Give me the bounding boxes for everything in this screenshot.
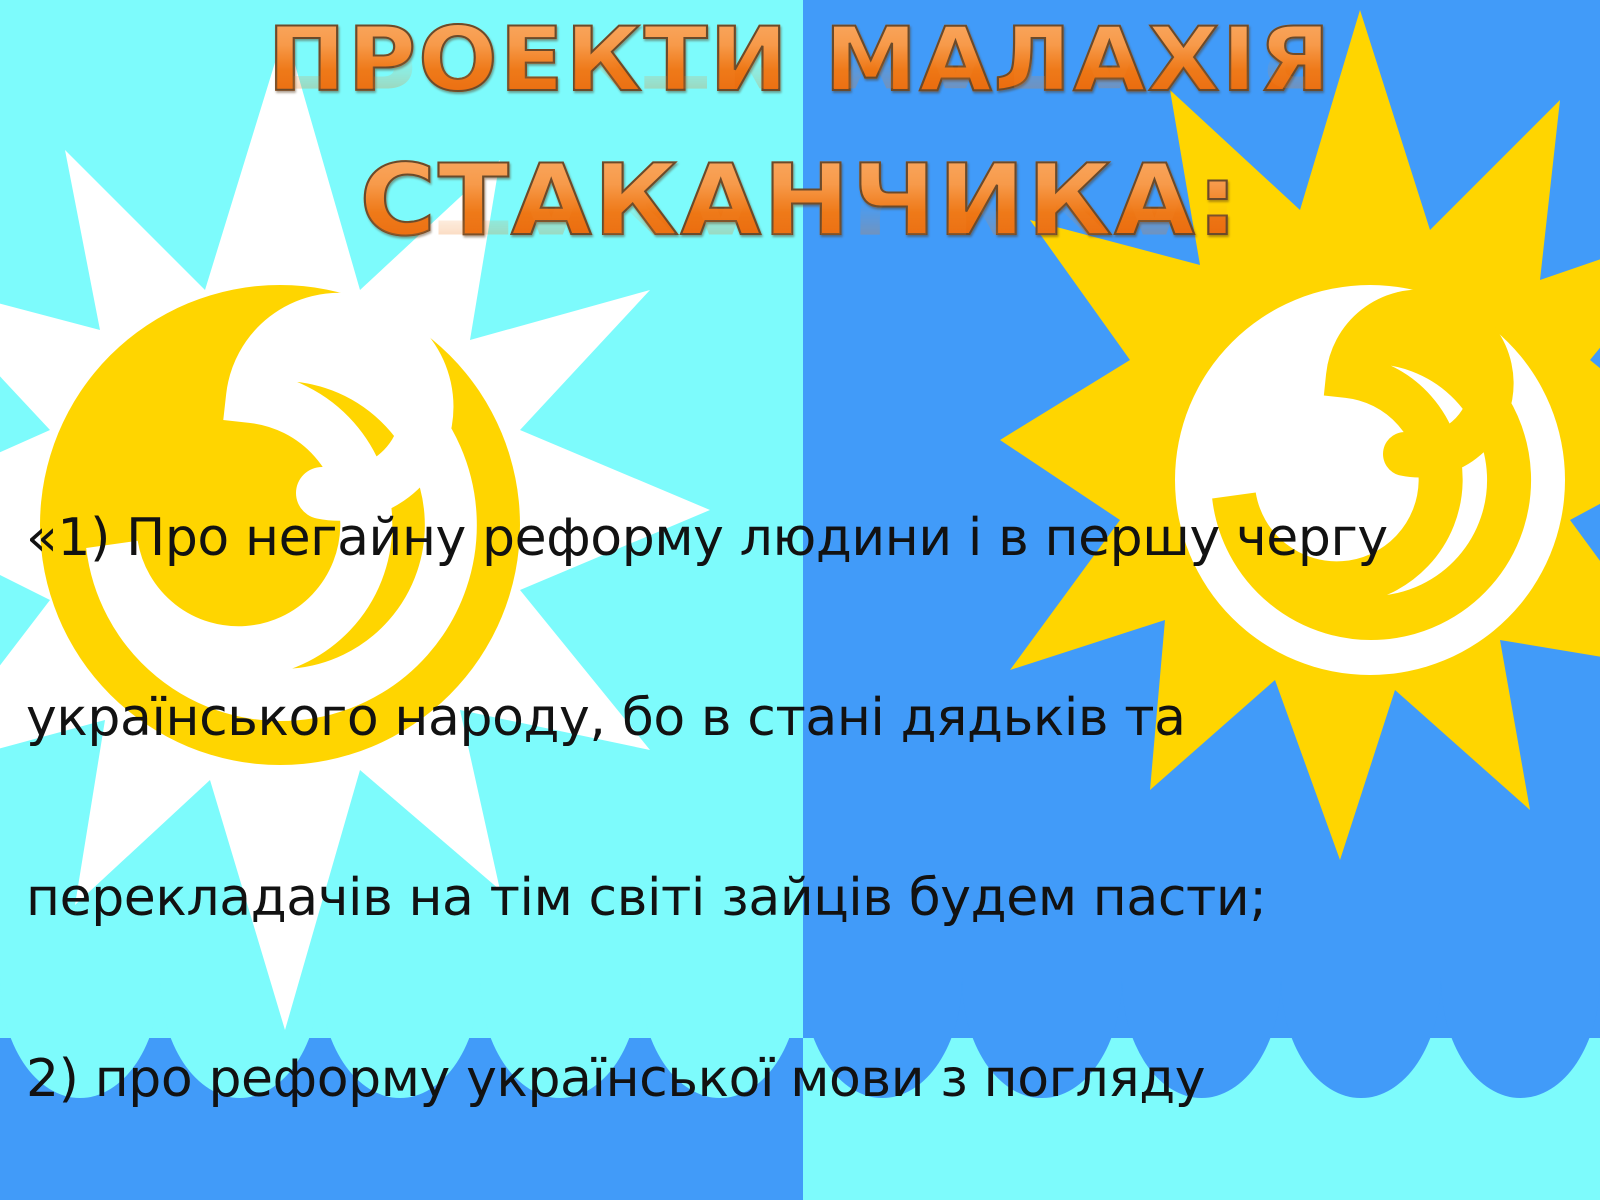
slide-body-text: «1) Про негайну реформу людини і в першу… xyxy=(26,388,1582,1200)
body-line: «1) Про негайну реформу людини і в першу… xyxy=(26,508,1582,568)
body-line: українського народу, бо в стані дядьків … xyxy=(26,688,1582,748)
presentation-slide: Проекти Малахія Проекти Малахія Стаканчи… xyxy=(0,0,1600,1200)
body-line: перекладачів на тім світі зайців будем п… xyxy=(26,868,1582,928)
body-line: 2) про реформу української мови з погляд… xyxy=(26,1049,1582,1109)
